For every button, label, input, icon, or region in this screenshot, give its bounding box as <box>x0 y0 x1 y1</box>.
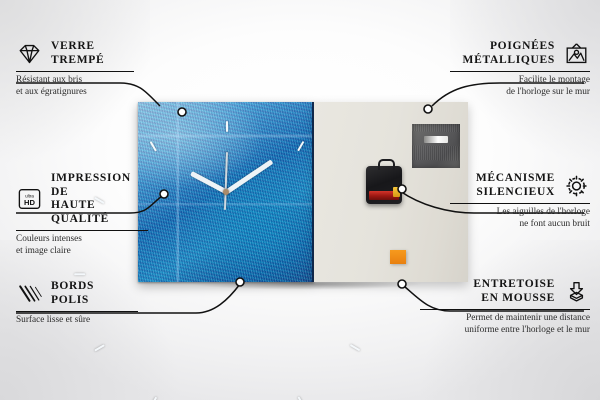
clock-tick <box>350 344 361 352</box>
callout-title: VERRE TREMPÉ <box>51 40 104 67</box>
gear-icon <box>563 174 590 198</box>
polished-edges-icon <box>16 282 43 306</box>
mechanism-hook <box>378 159 395 170</box>
clock-second-hand <box>225 152 229 210</box>
clock-tick <box>226 121 228 132</box>
callout-title: MÉCANISME SILENCIEUX <box>476 172 555 199</box>
callout-rule <box>16 311 138 312</box>
metal-hanger-plate <box>412 124 460 168</box>
ultra-hd-icon: ultra HD <box>16 187 43 211</box>
clock-back-panel <box>314 102 468 282</box>
clock-dial <box>138 102 314 282</box>
clock-tick <box>297 396 305 400</box>
clock-tick <box>297 141 305 152</box>
callout-subtitle: Couleurs intenses et image claire <box>16 234 148 257</box>
callout-entretoise-en-mousse: ENTRETOISE EN MOUSSE Permet de maintenir… <box>420 278 590 337</box>
callout-rule <box>16 230 148 231</box>
callout-subtitle: Les aiguilles de l'horloge ne font aucun… <box>450 207 590 230</box>
product-clock <box>138 102 468 282</box>
callout-verre-trempe: VERRE TREMPÉ Résistant aux bris et aux é… <box>16 40 134 99</box>
clock-minute-hand <box>225 159 273 193</box>
callout-rule <box>450 71 590 72</box>
clock-tick <box>150 396 158 400</box>
callout-title: IMPRESSION DE HAUTE QUALITÉ <box>51 172 148 226</box>
clock-face-panel <box>138 102 314 282</box>
svg-text:HD: HD <box>24 198 35 207</box>
callout-subtitle: Résistant aux bris et aux égratignures <box>16 75 134 98</box>
callout-title: POIGNÉES MÉTALLIQUES <box>463 40 555 67</box>
callout-title: ENTRETOISE EN MOUSSE <box>473 278 555 305</box>
callout-mecanisme-silencieux: MÉCANISME SILENCIEUX Les aiguilles de l'… <box>450 172 590 231</box>
diamond-icon <box>16 42 43 66</box>
battery-plus-terminal <box>393 187 400 197</box>
clock-tick <box>94 344 105 352</box>
callout-subtitle: Surface lisse et sûre <box>16 315 138 327</box>
hanging-frame-icon <box>563 42 590 66</box>
infographic-canvas: VERRE TREMPÉ Résistant aux bris et aux é… <box>0 0 600 400</box>
callout-rule <box>450 203 590 204</box>
clock-tick <box>74 273 85 275</box>
callout-rule <box>16 71 134 72</box>
callout-subtitle: Permet de maintenir une distance uniform… <box>420 313 590 336</box>
callout-title: BORDS POLIS <box>51 280 94 307</box>
callout-poignees-metalliques: POIGNÉES MÉTALLIQUES Facilite le montage… <box>450 40 590 99</box>
foam-spacer <box>390 250 406 264</box>
clock-hour-hand <box>190 171 228 194</box>
battery <box>369 191 399 200</box>
clock-tick <box>150 141 158 152</box>
hanger-slot <box>424 136 448 143</box>
callout-bords-polis: BORDS POLIS Surface lisse et sûre <box>16 280 138 327</box>
clock-mechanism <box>366 166 402 204</box>
callout-rule <box>420 309 590 310</box>
clock-center-hub <box>223 189 229 195</box>
callout-subtitle: Facilite le montage de l'horloge sur le … <box>450 75 590 98</box>
foam-spacer-icon <box>563 280 590 304</box>
callout-impression-haute-qualite: ultra HD IMPRESSION DE HAUTE QUALITÉ Cou… <box>16 172 148 258</box>
